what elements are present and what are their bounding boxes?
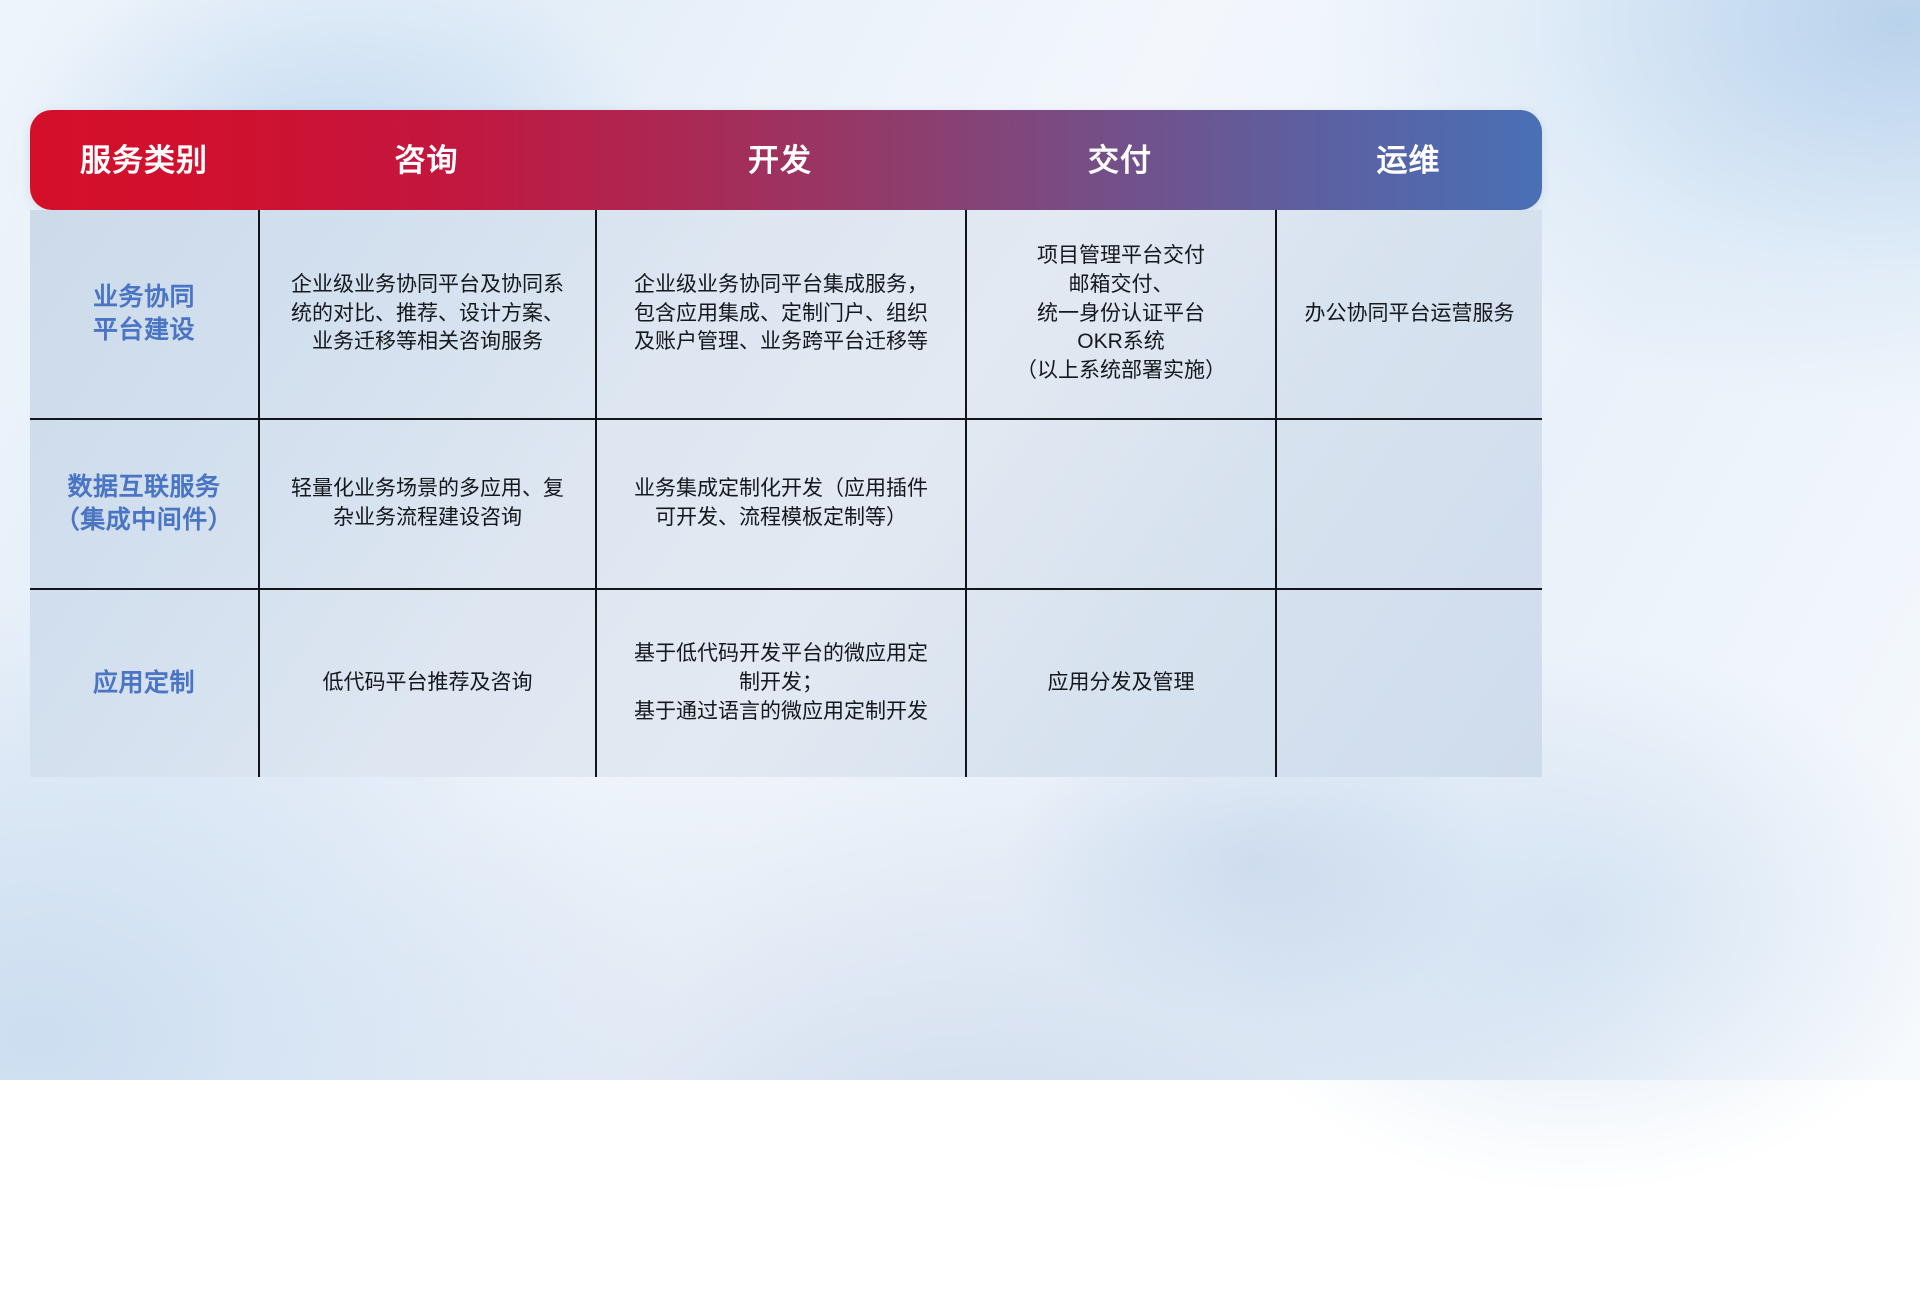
row-label-application-customization: 应用定制 <box>30 590 258 777</box>
table-body: 业务协同 平台建设 企业级业务协同平台及协同系 统的对比、推荐、设计方案、 业务… <box>30 210 1542 777</box>
cell-row1-development: 业务集成定制化开发（应用插件 可开发、流程模板定制等） <box>595 420 965 588</box>
cell-row1-consulting: 轻量化业务场景的多应用、复 杂业务流程建设咨询 <box>258 420 595 588</box>
table-row: 业务协同 平台建设 企业级业务协同平台及协同系 统的对比、推荐、设计方案、 业务… <box>30 210 1542 418</box>
cell-row1-delivery <box>965 420 1275 588</box>
row-label-business-collaboration: 业务协同 平台建设 <box>30 210 258 418</box>
cell-row2-operations <box>1275 590 1542 777</box>
column-header-category: 服务类别 <box>30 145 258 176</box>
cell-row0-delivery: 项目管理平台交付 邮箱交付、 统一身份认证平台 OKR系统 （以上系统部署实施） <box>965 210 1275 418</box>
column-header-consulting: 咨询 <box>258 145 595 176</box>
cell-row0-development: 企业级业务协同平台集成服务， 包含应用集成、定制门户、组织 及账户管理、业务跨平… <box>595 210 965 418</box>
cell-row2-delivery: 应用分发及管理 <box>965 590 1275 777</box>
column-header-operations: 运维 <box>1275 145 1542 176</box>
column-header-delivery: 交付 <box>965 145 1275 176</box>
service-matrix-table: 服务类别 咨询 开发 交付 运维 业务协同 平台建设 企业级业务协同平台及协同系… <box>30 110 1542 775</box>
table-row: 数据互联服务 （集成中间件） 轻量化业务场景的多应用、复 杂业务流程建设咨询 业… <box>30 418 1542 588</box>
table-row: 应用定制 低代码平台推荐及咨询 基于低代码开发平台的微应用定 制开发； 基于通过… <box>30 588 1542 777</box>
row-label-data-interconnect: 数据互联服务 （集成中间件） <box>30 420 258 588</box>
column-header-development: 开发 <box>595 145 965 176</box>
table-header-row: 服务类别 咨询 开发 交付 运维 <box>30 110 1542 210</box>
cell-row1-operations <box>1275 420 1542 588</box>
cell-row0-consulting: 企业级业务协同平台及协同系 统的对比、推荐、设计方案、 业务迁移等相关咨询服务 <box>258 210 595 418</box>
cell-row2-development: 基于低代码开发平台的微应用定 制开发； 基于通过语言的微应用定制开发 <box>595 590 965 777</box>
cell-row0-operations: 办公协同平台运营服务 <box>1275 210 1542 418</box>
cell-row2-consulting: 低代码平台推荐及咨询 <box>258 590 595 777</box>
